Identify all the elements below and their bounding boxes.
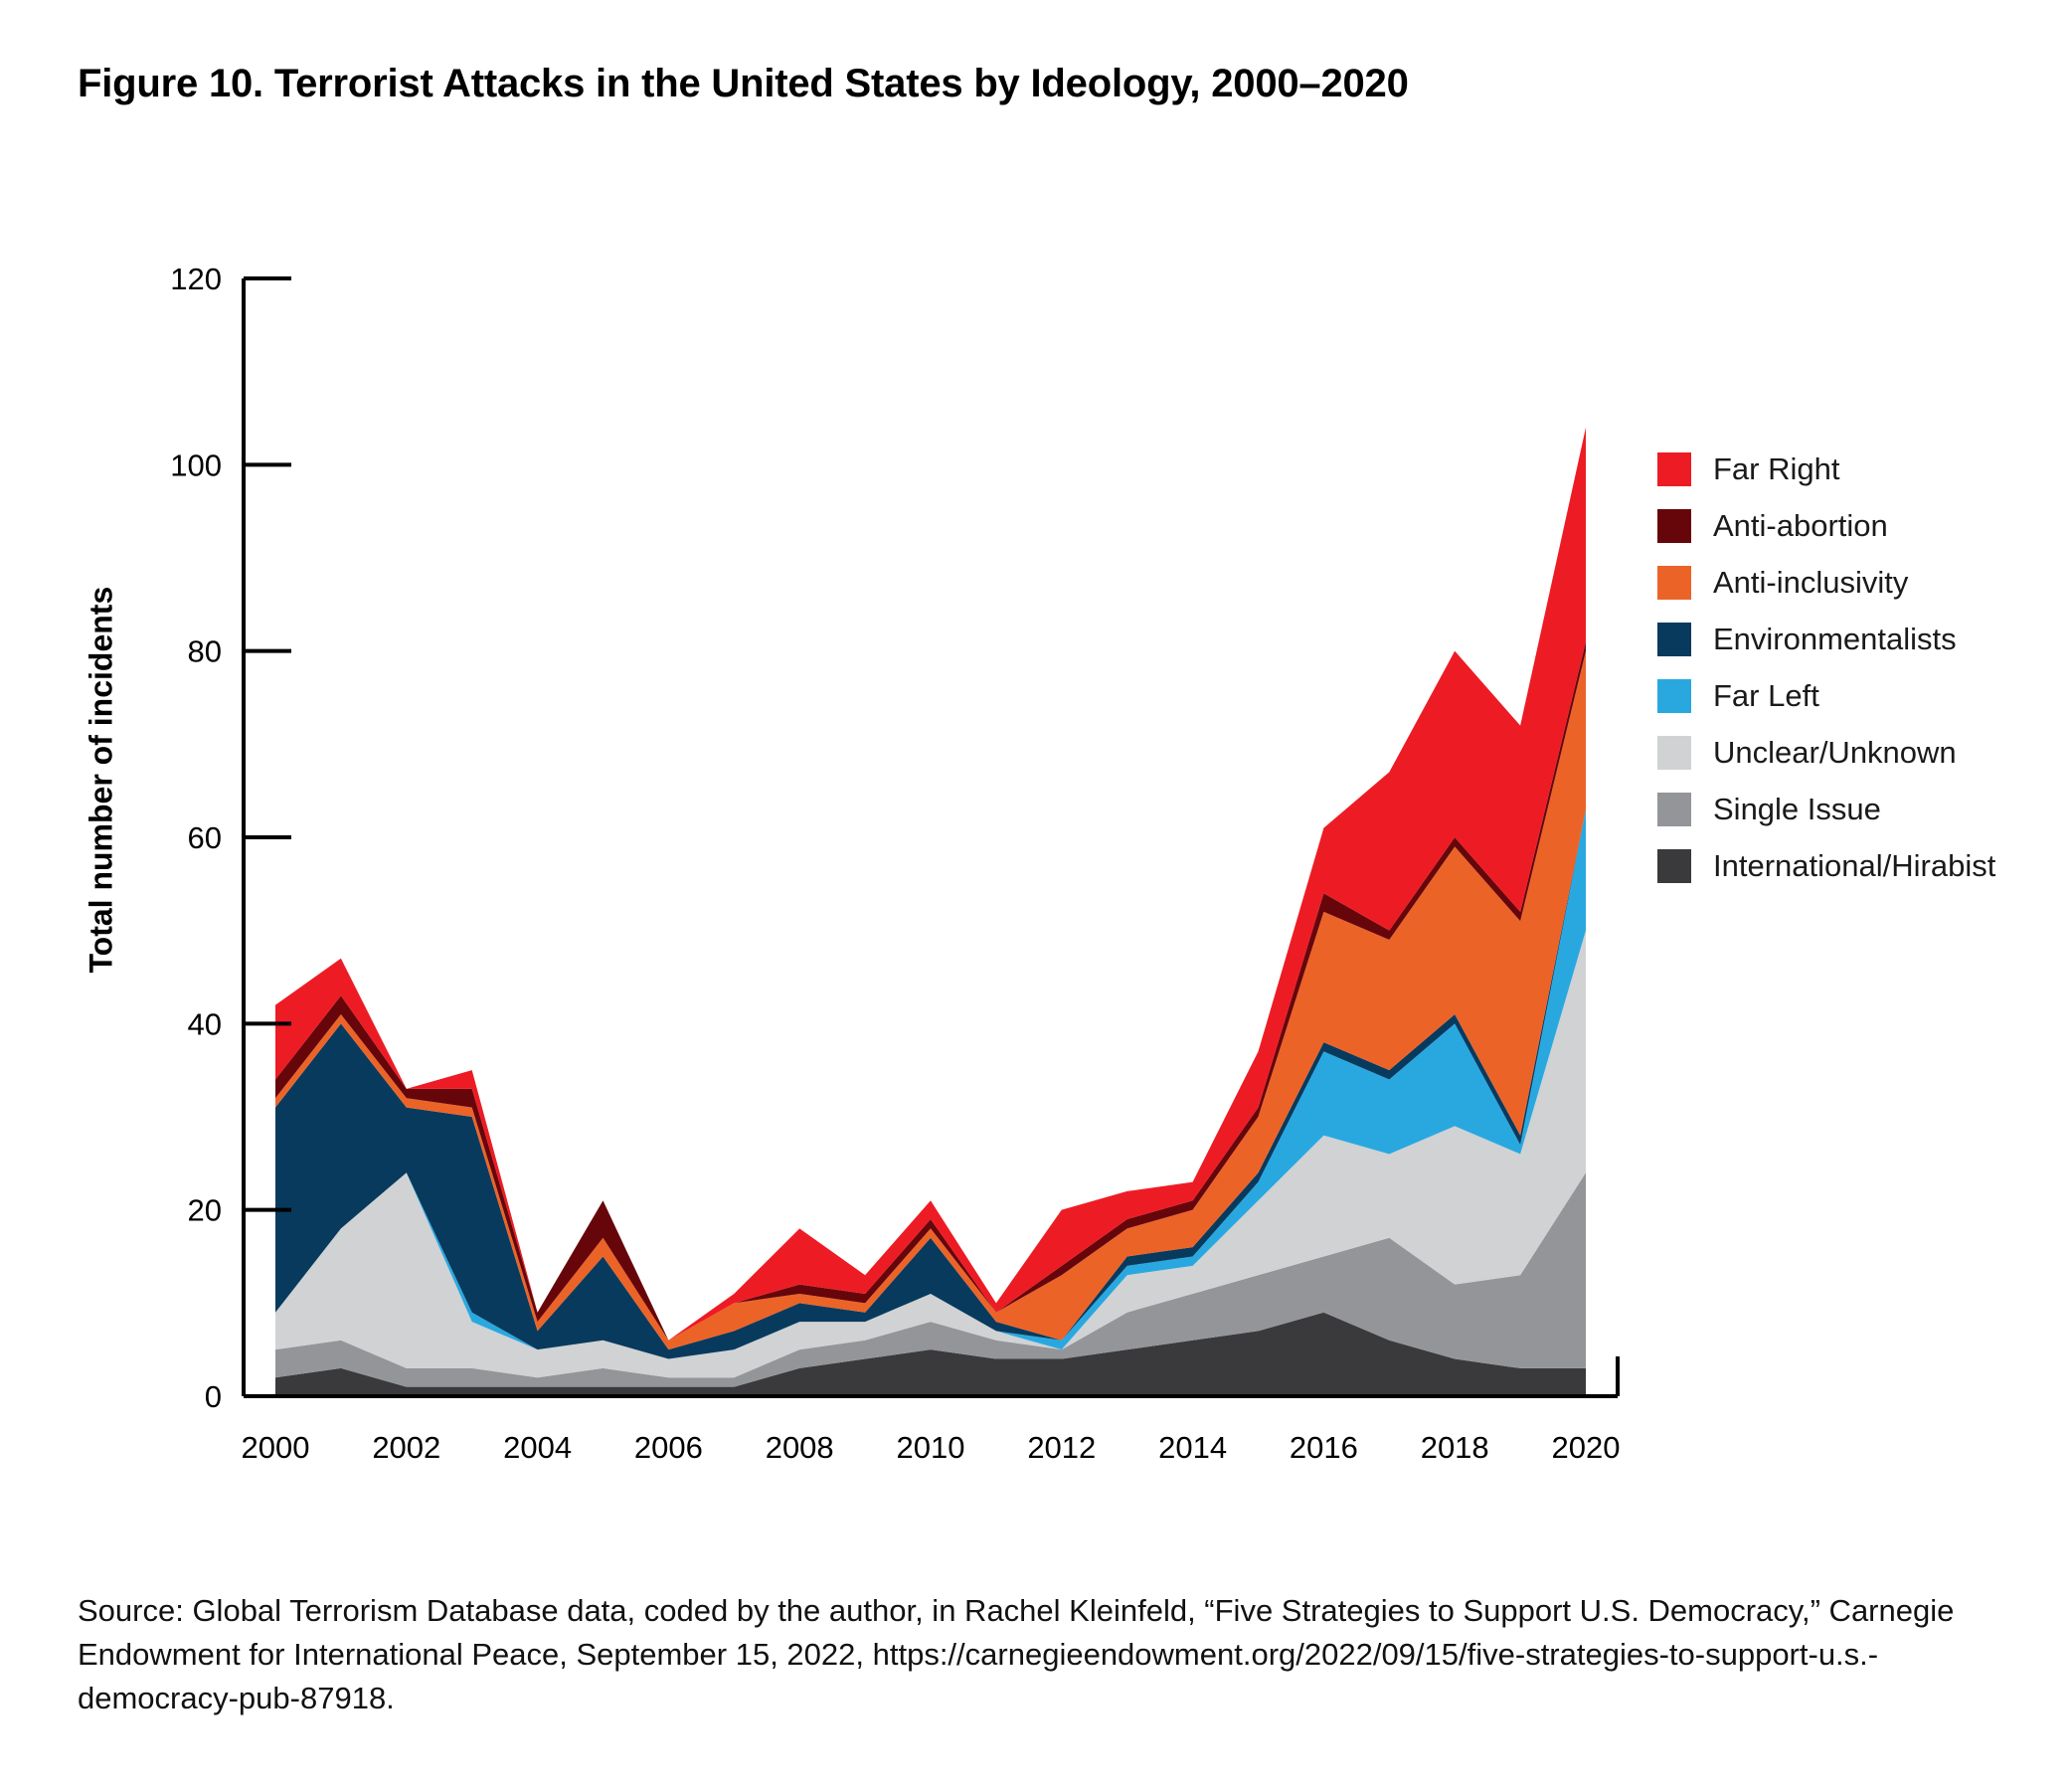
x-axis-tick-label: 2004 [503, 1430, 572, 1465]
legend-swatch-icon [1657, 793, 1691, 826]
legend-swatch-icon [1657, 679, 1691, 713]
x-axis-tick-label: 2002 [372, 1430, 440, 1465]
legend-item-label: Environmentalists [1713, 624, 1957, 654]
x-axis-tick-label: 2016 [1290, 1430, 1358, 1465]
legend-item[interactable]: International/Hirabist [1657, 837, 2055, 894]
x-axis-tick-label: 2014 [1158, 1430, 1227, 1465]
legend-item[interactable]: Environmentalists [1657, 611, 2055, 667]
legend-item[interactable]: Anti-inclusivity [1657, 554, 2055, 611]
legend-swatch-icon [1657, 623, 1691, 656]
y-axis-tick-label: 20 [188, 1193, 222, 1228]
legend-swatch-icon [1657, 452, 1691, 486]
y-axis-ticks: 020406080100120 [170, 262, 291, 1414]
legend-item-label: International/Hirabist [1713, 850, 1995, 881]
legend-swatch-icon [1657, 509, 1691, 543]
y-axis-tick-label: 80 [188, 634, 222, 669]
legend-swatch-icon [1657, 736, 1691, 770]
legend-item-label: Far Left [1713, 680, 1819, 711]
x-axis-ticks: 2000200220042006200820102012201420162018… [242, 1430, 1621, 1465]
legend-swatch-icon [1657, 849, 1691, 883]
legend-item-label: Anti-abortion [1713, 510, 1888, 541]
x-axis-tick-label: 2008 [766, 1430, 834, 1465]
legend-swatch-icon [1657, 566, 1691, 600]
y-axis-tick-label: 60 [188, 820, 222, 855]
legend-item[interactable]: Single Issue [1657, 781, 2055, 837]
legend-item-label: Anti-inclusivity [1713, 567, 1908, 598]
legend-item[interactable]: Far Right [1657, 441, 2055, 497]
x-axis-tick-label: 2000 [242, 1430, 310, 1465]
legend-item-label: Single Issue [1713, 794, 1881, 824]
legend-item[interactable]: Far Left [1657, 667, 2055, 724]
legend-item[interactable]: Anti-abortion [1657, 497, 2055, 554]
y-axis-tick-label: 100 [170, 448, 222, 482]
x-axis-tick-label: 2020 [1552, 1430, 1621, 1465]
legend-item-label: Far Right [1713, 453, 1839, 484]
x-axis-tick-label: 2012 [1027, 1430, 1096, 1465]
legend-item-label: Unclear/Unknown [1713, 737, 1957, 768]
y-axis-tick-label: 0 [205, 1379, 222, 1414]
x-axis-tick-label: 2018 [1421, 1430, 1489, 1465]
source-note: Source: Global Terrorism Database data, … [78, 1589, 1996, 1720]
x-axis-tick-label: 2006 [634, 1430, 703, 1465]
legend-item[interactable]: Unclear/Unknown [1657, 724, 2055, 781]
legend: Far RightAnti-abortionAnti-inclusivityEn… [1657, 441, 2055, 894]
chart-series-group [275, 428, 1586, 1396]
y-axis-tick-label: 120 [170, 262, 222, 296]
x-axis-tick-label: 2010 [897, 1430, 965, 1465]
y-axis-tick-label: 40 [188, 1006, 222, 1041]
